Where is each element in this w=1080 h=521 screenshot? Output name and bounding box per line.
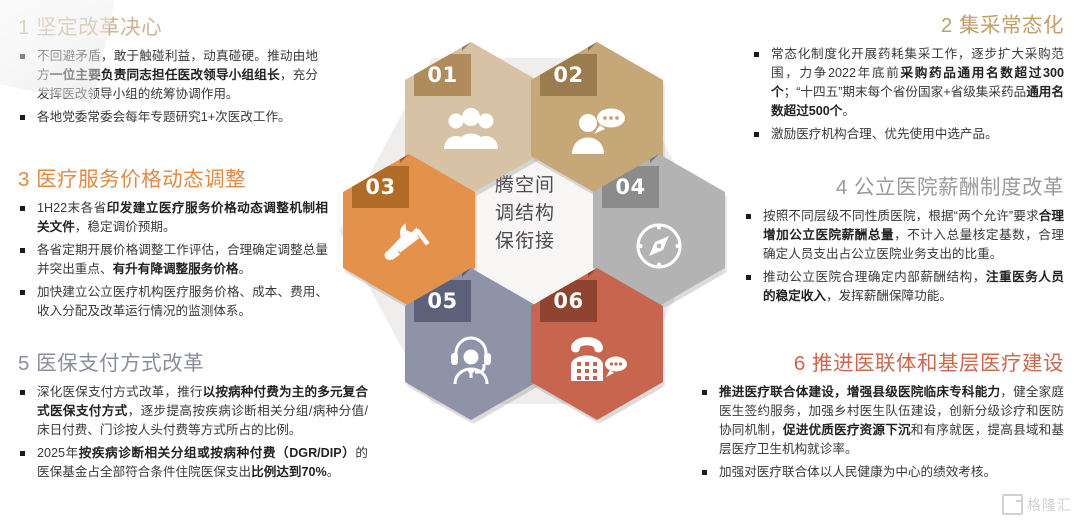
section-3: 3 医疗服务价格动态调整 1H22末各省印发建立医疗服务价格动态调整机制相关文件… (18, 168, 328, 325)
watermark: 格隆汇 (1002, 494, 1072, 515)
person-speech-bubble-icon (531, 108, 663, 154)
wrench-screwdriver-icon (343, 220, 475, 270)
telephone-chat-icon (531, 334, 663, 382)
hexagon-06-number: 06 (553, 291, 583, 312)
hexagon-01-ribbon: 01 (414, 54, 471, 96)
section-6-heading: 6 推进医联体和基层医疗建设 (700, 352, 1064, 376)
bullet-item: 2025年按疾病诊断相关分组或按病种付费（DGR/DIP）的医保基金占全部符合条… (18, 444, 368, 482)
hexagon-01-number: 01 (427, 65, 457, 86)
hexagon-cluster-diagram: 腾空间 调结构 保衔接 01 02 (325, 22, 725, 442)
hexagon-03-ribbon: 03 (352, 166, 409, 208)
hexagon-02-number: 02 (553, 65, 583, 86)
hexagon-01-ribbon-fold (462, 42, 471, 51)
watermark-logo-icon (1002, 494, 1023, 515)
section-3-heading: 3 医疗服务价格动态调整 (18, 168, 328, 192)
section-4-bullets: 按照不同层级不同性质医院，根据“两个允许”要求合理增加公立医院薪酬总量，不计入总… (744, 207, 1064, 307)
section-5: 5 医保支付方式改革 深化医保支付方式改革，推行以按病种付费为主的多元复合式医保… (18, 352, 368, 486)
bullet-item: 按照不同层级不同性质医院，根据“两个允许”要求合理增加公立医院薪酬总量，不计入总… (744, 207, 1064, 264)
section-2-heading: 2 集采常态化 (752, 14, 1064, 38)
bullet-item: 激励医疗机构合理、优先使用中选产品。 (752, 125, 1064, 144)
section-4-heading: 4 公立医院薪酬制度改革 (744, 176, 1064, 200)
bullet-item: 加快建立公立医疗机构医疗服务价格、成本、费用、收入分配及改革运行情况的监测体系。 (18, 283, 328, 321)
bullet-item: 各地党委常委会每年专题研究1+次医改工作。 (18, 108, 318, 127)
bullet-item: 加强对医疗联合体以人民健康为中心的绩效考核。 (700, 463, 1064, 482)
headset-support-icon (405, 334, 537, 384)
bullet-item: 推动公立医院合理确定内部薪酬结构，注重医务人员的稳定收入，发挥薪酬保障功能。 (744, 268, 1064, 306)
section-6-bullets: 推进医疗联合体建设，增强县级医院临床专科能力，健全家庭医生签约服务，加强乡村医生… (700, 383, 1064, 483)
section-2: 2 集采常态化 常态化制度化开展药耗集采工作，逐步扩大采购范围，力争2022年底… (752, 14, 1064, 148)
bullet-item: 深化医保支付方式改革，推行以按病种付费为主的多元复合式医保支付方式，逐步提高按疾… (18, 383, 368, 440)
section-5-heading: 5 医保支付方式改革 (18, 352, 368, 376)
people-group-icon (405, 108, 537, 150)
hexagon-05-number: 05 (427, 291, 457, 312)
compass-icon (593, 220, 725, 272)
bullet-item: 推进医疗联合体建设，增强县级医院临床专科能力，健全家庭医生签约服务，加强乡村医生… (700, 383, 1064, 460)
section-4: 4 公立医院薪酬制度改革 按照不同层级不同性质医院，根据“两个允许”要求合理增加… (744, 176, 1064, 310)
watermark-text: 格隆汇 (1027, 495, 1072, 515)
section-2-bullets: 常态化制度化开展药耗集采工作，逐步扩大采购范围，力争2022年底前采购药品通用名… (752, 45, 1064, 145)
section-6: 6 推进医联体和基层医疗建设 推进医疗联合体建设，增强县级医院临床专科能力，健全… (700, 352, 1064, 486)
bullet-item: 各省定期开展价格调整工作评估，合理确定调整总量并突出重点、有升有降调整服务价格。 (18, 241, 328, 279)
hexagon-02-ribbon-fold (588, 42, 597, 51)
bullet-item: 1H22末各省印发建立医疗服务价格动态调整机制相关文件，稳定调价预期。 (18, 199, 328, 237)
section-5-bullets: 深化医保支付方式改革，推行以按病种付费为主的多元复合式医保支付方式，逐步提高按疾… (18, 383, 368, 483)
section-3-bullets: 1H22末各省印发建立医疗服务价格动态调整机制相关文件，稳定调价预期。 各省定期… (18, 199, 328, 322)
hexagon-04-number: 04 (615, 177, 645, 198)
center-caption-line-3: 保衔接 (475, 228, 575, 256)
hexagon-03-number: 03 (365, 177, 395, 198)
bullet-item: 常态化制度化开展药耗集采工作，逐步扩大采购范围，力争2022年底前采购药品通用名… (752, 45, 1064, 122)
center-caption-line-2: 调结构 (475, 200, 575, 228)
